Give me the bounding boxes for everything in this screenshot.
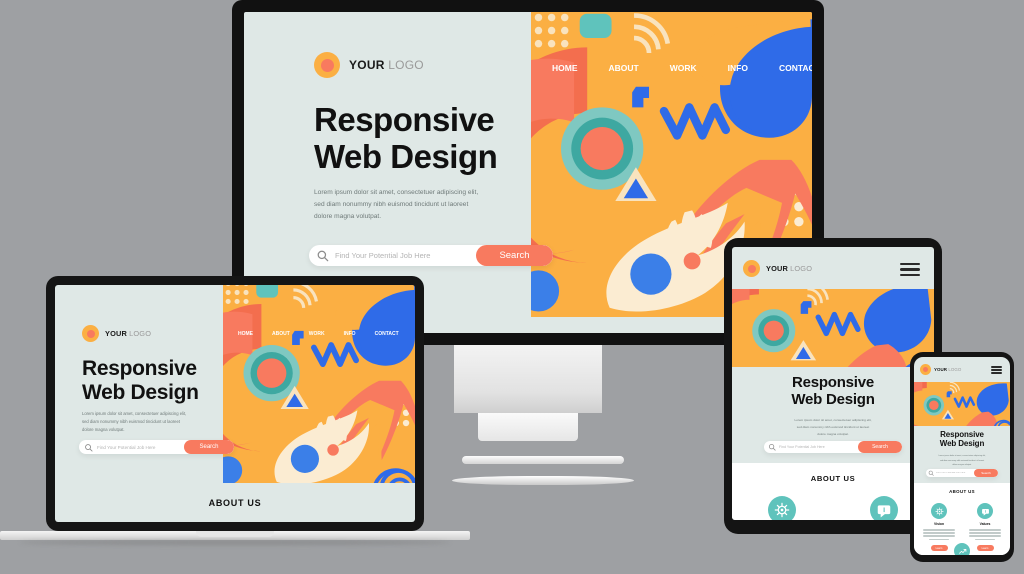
logo-primary-text: YOUR [349, 58, 385, 72]
about-us-heading: ABOUT US [732, 474, 934, 483]
target-icon [768, 496, 796, 520]
paragraph-line-3: dolore magna volutpat. [82, 426, 186, 434]
site-logo[interactable]: YOUR LOGO [314, 52, 424, 78]
nav-item-work[interactable]: WORK [309, 331, 325, 337]
paragraph-line-3: dolore magna volutpat. [732, 431, 934, 438]
search-input[interactable]: Find Your Potential Job Here [97, 445, 184, 450]
headline-line-2: Web Design [914, 440, 1010, 449]
hero-paragraph: Lorem ipsum dolor sit amet, consectetuer… [914, 454, 1010, 468]
nav-item-home[interactable]: HOME [552, 63, 578, 73]
nav-item-info[interactable]: INFO [344, 331, 356, 337]
paragraph-line-3: dolore magna volutpat. [314, 211, 478, 223]
hero-paragraph: Lorem ipsum dolor sit amet, consectetuer… [82, 410, 186, 433]
logo-mark-icon [82, 325, 99, 342]
logo-secondary-text: LOGO [129, 329, 151, 338]
paragraph-line-3: dolore magna volutpat. [914, 463, 1010, 468]
search-bar[interactable]: Find Your Potential Job Here Search [309, 245, 553, 266]
nav-item-info[interactable]: INFO [728, 63, 748, 73]
logo-primary-text: YOUR [766, 264, 788, 273]
nav-item-about[interactable]: ABOUT [609, 63, 639, 73]
laptop-shadow [20, 540, 450, 545]
nav-item-home[interactable]: HOME [238, 331, 253, 337]
paragraph-line-1: Lorem ipsum dolor sit amet, consectetuer… [82, 410, 186, 418]
search-bar[interactable]: Find Your Potential Job Here Search [764, 441, 902, 453]
search-input[interactable]: Find Your Potential Job Here [779, 445, 858, 449]
search-button[interactable]: Search [184, 440, 234, 454]
logo-mark-icon [743, 260, 760, 277]
search-button[interactable]: Search [858, 441, 902, 453]
hero-paragraph: Lorem ipsum dolor sit amet, consectetuer… [732, 417, 934, 437]
search-bar[interactable]: Find Your Potential Job Here Search [926, 469, 998, 477]
growth-chart-icon [954, 543, 970, 555]
search-button[interactable]: Search [476, 245, 553, 266]
feature-description [966, 529, 1004, 540]
headline-line-2: Web Design [732, 392, 934, 409]
feature-description [920, 529, 958, 540]
nav-item-contact[interactable]: CONTACT [375, 331, 399, 337]
nav-item-work[interactable]: WORK [670, 63, 697, 73]
logo-secondary-text: LOGO [948, 367, 961, 372]
headline-line-1: Responsive [314, 102, 497, 139]
speech-bubble-icon [977, 503, 993, 519]
search-icon [309, 249, 335, 262]
headline-line-2: Web Design [314, 139, 497, 176]
hamburger-menu-icon[interactable] [900, 263, 920, 276]
headline-line-1: Responsive [732, 375, 934, 392]
logo-secondary-text: LOGO [388, 58, 424, 72]
search-icon [926, 470, 936, 476]
hamburger-menu-icon[interactable] [991, 366, 1002, 374]
search-input[interactable]: Find Your Potential Job Here [335, 251, 476, 260]
about-us-section: ABOUT US Vision Values [732, 463, 934, 520]
paragraph-line-1: Lorem ipsum dolor sit amet, consectetuer… [314, 187, 478, 199]
site-logo[interactable]: YOUR LOGO [743, 260, 812, 277]
paragraph-line-2: sed diam nonummy nibh euismod tincidunt … [732, 424, 934, 431]
search-bar[interactable]: Find Your Potential Job Here Search [79, 440, 234, 454]
nav-item-about[interactable]: ABOUT [272, 331, 290, 337]
site-logo[interactable]: YOUR LOGO [82, 325, 151, 342]
target-icon [931, 503, 947, 519]
paragraph-line-2: sed diam nonummy nibh euismod tincidunt … [82, 418, 186, 426]
mockup-stage: YOUR LOGO HOME ABOUT WORK INFO CONTACT R… [0, 0, 1024, 574]
logo-mark-icon [314, 52, 340, 78]
search-icon [764, 443, 779, 451]
feature-label: Vision [920, 522, 958, 526]
about-us-heading: ABOUT US [55, 498, 415, 508]
laptop-screen: YOUR LOGO HOME ABOUT WORK INFO CONTACT R… [55, 285, 415, 522]
nav-item-contact[interactable]: CONTACT [779, 63, 812, 73]
logo-mark-icon [920, 364, 931, 375]
logo-primary-text: YOUR [105, 329, 127, 338]
headline-line-1: Responsive [82, 357, 199, 381]
search-input[interactable]: Find Your Potential Job Here [936, 472, 974, 474]
feature-vision[interactable]: Vision [754, 496, 810, 520]
search-icon [79, 443, 97, 452]
laptop-device: YOUR LOGO HOME ABOUT WORK INFO CONTACT R… [46, 276, 424, 531]
page-title: Responsive Web Design [82, 357, 199, 404]
feature-values[interactable]: Values [856, 496, 912, 520]
hero-illustration [223, 285, 415, 483]
page-title: Responsive Web Design [314, 102, 497, 176]
monitor-stand-neck [454, 345, 602, 413]
about-us-section: ABOUT US Vision Learn [914, 483, 1010, 555]
headline-line-2: Web Design [82, 381, 199, 405]
site-logo[interactable]: YOUR LOGO [920, 364, 961, 375]
feature-grow[interactable]: Grow Learn [943, 543, 981, 555]
search-button[interactable]: Search [974, 469, 998, 477]
main-nav[interactable]: HOME ABOUT WORK INFO CONTACT [552, 63, 812, 73]
paragraph-line-1: Lorem ipsum dolor sit amet, consectetuer… [732, 417, 934, 424]
paragraph-line-2: sed diam nonummy nibh euismod tincidunt … [314, 199, 478, 211]
monitor-stand-hinge [478, 413, 578, 441]
page-title: Responsive Web Design [914, 431, 1010, 449]
hero-paragraph: Lorem ipsum dolor sit amet, consectetuer… [314, 187, 478, 224]
tablet-screen: YOUR LOGO Responsive Web Design Lorem ip… [732, 247, 934, 520]
feature-label: Values [966, 522, 1004, 526]
main-nav[interactable]: HOME ABOUT WORK INFO CONTACT [238, 331, 399, 337]
laptop-notch [196, 531, 274, 537]
hero-illustration [732, 289, 934, 367]
monitor-stand-base-lower [452, 476, 634, 485]
monitor-stand-base-upper [462, 456, 624, 464]
page-title: Responsive Web Design [732, 375, 934, 409]
speech-bubble-icon [870, 496, 898, 520]
about-us-heading: ABOUT US [914, 489, 1010, 494]
logo-secondary-text: LOGO [790, 264, 812, 273]
logo-primary-text: YOUR [934, 367, 947, 372]
